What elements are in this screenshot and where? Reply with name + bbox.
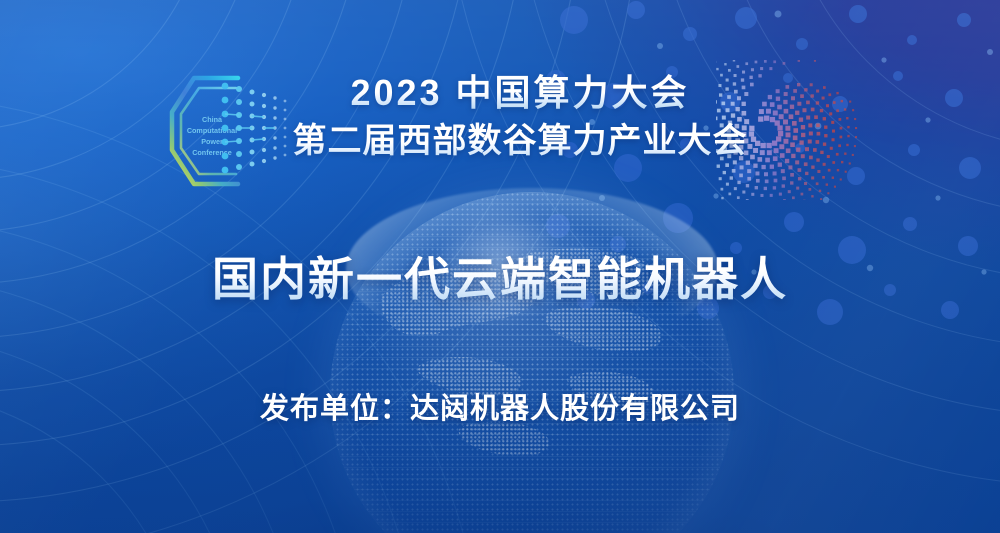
- conference-banner: China Computational Power Conference: [0, 0, 1000, 533]
- headline-block: 2023 中国算力大会 第二届西部数谷算力产业大会: [0, 72, 1000, 162]
- page-title: 国内新一代云端智能机器人: [0, 243, 1000, 309]
- headline-line-1: 2023 中国算力大会: [40, 72, 1000, 114]
- issuer-label: 发布单位：达闼机器人股份有限公司: [0, 385, 1000, 427]
- headline-line-2: 第二届西部数谷算力产业大会: [40, 121, 1000, 162]
